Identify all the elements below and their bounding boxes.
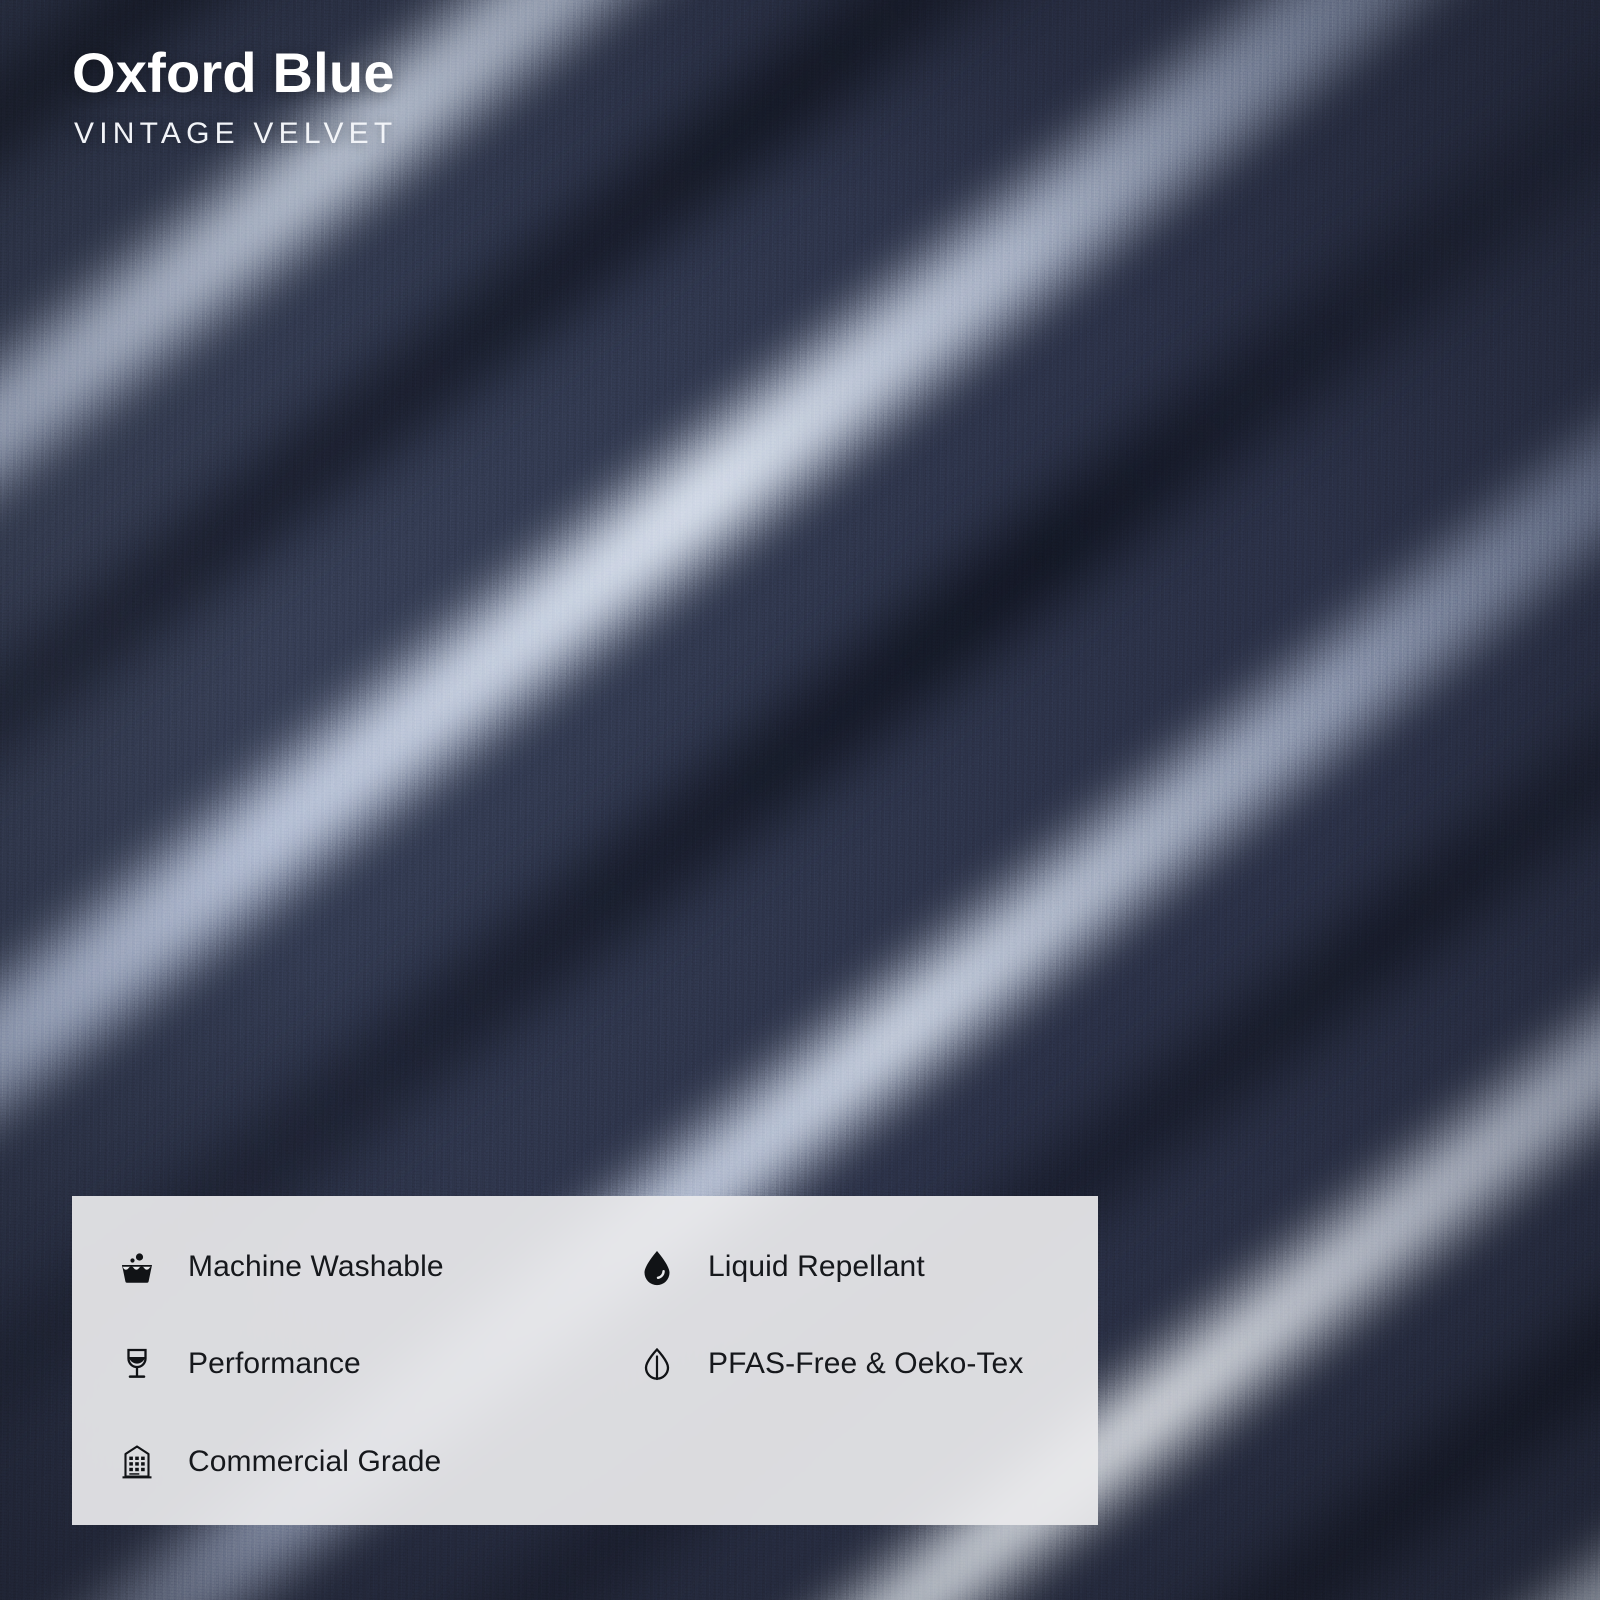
feature-label: Liquid Repellant bbox=[708, 1250, 925, 1284]
feature-label: Machine Washable bbox=[188, 1250, 444, 1284]
features-panel: Machine Washable Liquid Repellant bbox=[72, 1196, 1098, 1525]
wash-basin-icon bbox=[114, 1244, 160, 1290]
product-swatch-card: Oxford Blue VINTAGE VELVET Machine Washa… bbox=[0, 0, 1600, 1600]
leaf-icon bbox=[634, 1341, 680, 1387]
feature-label: Commercial Grade bbox=[188, 1445, 441, 1479]
feature-label: Performance bbox=[188, 1347, 361, 1381]
building-icon bbox=[114, 1439, 160, 1485]
feature-item-pfas-free: PFAS-Free & Oeko-Tex bbox=[592, 1316, 1098, 1414]
water-droplet-icon bbox=[634, 1244, 680, 1290]
feature-label: PFAS-Free & Oeko-Tex bbox=[708, 1347, 1023, 1381]
feature-item-machine-washable: Machine Washable bbox=[72, 1218, 592, 1316]
wine-glass-icon bbox=[114, 1341, 160, 1387]
feature-item-performance: Performance bbox=[72, 1316, 592, 1414]
feature-item-liquid-repellant: Liquid Repellant bbox=[592, 1218, 1098, 1316]
feature-item-commercial-grade: Commercial Grade bbox=[72, 1413, 592, 1511]
page-title: Oxford Blue bbox=[72, 44, 397, 103]
page-subtitle: VINTAGE VELVET bbox=[74, 117, 397, 151]
header: Oxford Blue VINTAGE VELVET bbox=[72, 44, 397, 151]
